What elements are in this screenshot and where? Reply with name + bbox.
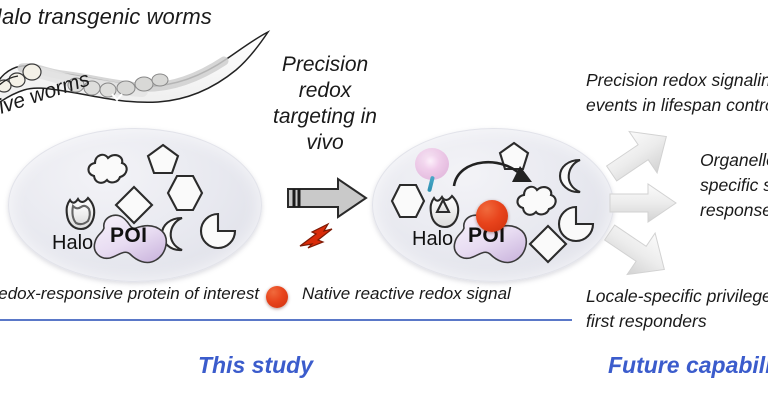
curved-transfer-arrow-icon [448,148,538,194]
lightning-bolt-icon [298,222,346,250]
outcome-stress-responses: Organelle-/tissue-specific stress respon… [700,148,768,223]
caption-this-study: This study [198,352,313,379]
hexagon-icon [390,182,426,220]
redox-signal-dot [476,200,508,232]
cloud-icon [84,150,130,186]
caption-future-capabilities: Future capabilities [608,352,768,379]
legend-marker-redox-signal [266,286,288,308]
outcome-first-responders: Locale-specific privileged first respond… [586,284,768,334]
poi-label-left: POI [110,224,147,248]
halo-label-left: Halo [52,232,93,255]
hexagon-icon [166,173,204,213]
pentagon-icon [146,143,180,175]
legend-label-poi: Redox-responsive protein of interest [0,284,259,304]
outcome-lifespan-control: Precision redox signaling events in life… [586,68,768,118]
pac-man-icon [199,212,237,250]
figure-canvas: Halo transgenic worms in live worms [0,0,768,400]
diamond-icon [528,224,568,264]
worm-label: Halo transgenic worms [0,4,212,30]
precision-redox-targeting-text: Precision redox targeting in vivo [266,52,384,156]
halo-label-right: Halo [412,228,453,251]
legend-label-redox-signal: Native reactive redox signal [302,284,511,304]
ligand-core-icon [424,156,440,171]
crescent-icon [558,157,588,195]
section-divider [0,319,572,321]
transition-arrow-icon [284,176,370,220]
